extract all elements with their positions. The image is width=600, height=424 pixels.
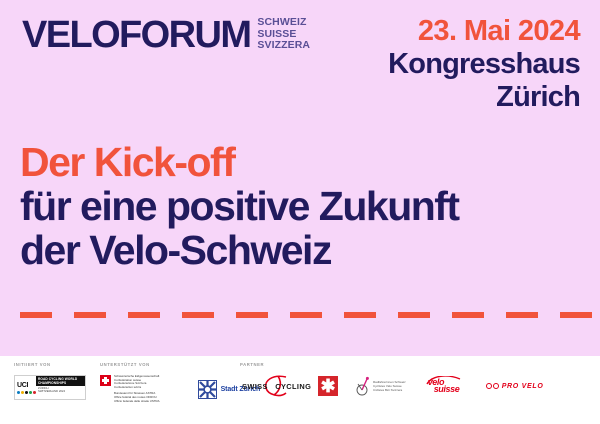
footer-label-partners: PARTNER [240, 362, 592, 367]
veloforum-wordmark: VELOFORUM [22, 16, 250, 54]
headline-line-3: der Velo-Schweiz [20, 228, 580, 272]
footer-label-supported-by: UNTERSTÜTZT VON [100, 362, 260, 367]
divider-dash [74, 312, 106, 318]
footer-column-initiated-by: INITIIERT VON UCI ROAD CYCLING WORLD CHA… [14, 362, 86, 400]
divider-dash [344, 312, 376, 318]
brand-language-list: SCHWEIZ SUISSE SVIZZERA [254, 17, 310, 52]
divider-dash [20, 312, 52, 318]
swiss-cross-icon [100, 375, 111, 386]
footer-logo-row-initiated-by: UCI ROAD CYCLING WORLD CHAMPIONSHIPS ZÜR… [14, 375, 86, 400]
astra-line-it: Ufficio federale delle strade USTRA [114, 400, 160, 404]
event-date: 23. Mai 2024 [388, 14, 580, 48]
pro-velo-label: PRO VELO [502, 383, 544, 390]
federation-text: Radfahrerinnen Schweiz Cyclistes Vélo Su… [373, 380, 406, 392]
uci-rings-icon [17, 391, 36, 394]
footer-logo-row-supported-by: Schweizerische Eidgenossenschaft Confédé… [100, 375, 260, 403]
velosuisse-logo: velo suisse [426, 376, 472, 396]
divider-dash [236, 312, 268, 318]
uci-logo-mark-area: UCI [15, 376, 36, 399]
swiss-cycling-logo: SWISS CYCLING [242, 375, 304, 397]
uci-logo-mark: UCI [17, 382, 36, 390]
footer-column-supported-by: UNTERSTÜTZT VON Schweizerische Eidgenoss… [100, 362, 260, 403]
swiss-confederation-logo: Schweizerische Eidgenossenschaft Confédé… [100, 375, 160, 403]
uci-logo-text-area: ROAD CYCLING WORLD CHAMPIONSHIPS ZÜRICH … [36, 376, 85, 399]
event-details: 23. Mai 2024 Kongresshaus Zürich [388, 14, 580, 114]
federation-mark-icon [356, 376, 370, 396]
divider-dash [128, 312, 160, 318]
pro-velo-logo: PRO VELO [486, 383, 544, 390]
event-venue-line1: Kongresshaus [388, 48, 580, 81]
footer-column-partners: PARTNER SWISS CYCLING ✱ [240, 362, 592, 397]
divider-dash [560, 312, 592, 318]
divider-dash [290, 312, 322, 318]
federation-line-it: Ciclistes Bici Svizzera [373, 388, 406, 392]
divider-dash [182, 312, 214, 318]
event-venue-line2: Zürich [388, 81, 580, 114]
uci-subline-country: SWITZERLAND 2024 [38, 390, 83, 393]
headline-block: Der Kick-off für eine positive Zukunft d… [20, 140, 580, 272]
uci-logo: UCI ROAD CYCLING WORLD CHAMPIONSHIPS ZÜR… [14, 375, 86, 400]
velosuisse-word-suisse: suisse [434, 385, 460, 394]
dashed-divider [20, 312, 600, 318]
divider-dash [506, 312, 538, 318]
radfahrer-federation-logo: Radfahrerinnen Schweiz Cyclistes Vélo Su… [356, 376, 406, 396]
swiss-confederation-text: Schweizerische Eidgenossenschaft Confédé… [114, 375, 160, 403]
swiss-cycling-word-swiss: SWISS [242, 382, 268, 391]
uci-sublines: ZÜRICH SWITZERLAND 2024 [36, 386, 85, 399]
swiss-cycling-word-cycling: CYCLING [275, 382, 311, 391]
zurich-coat-of-arms-icon [198, 380, 217, 399]
headline-line-1: Der Kick-off [20, 140, 580, 184]
headline-line-2: für eine positive Zukunft [20, 184, 580, 228]
poster-header: VELOFORUM SCHWEIZ SUISSE SVIZZERA 23. Ma… [0, 0, 600, 128]
brand-language-de: SCHWEIZ [257, 17, 310, 29]
brand-language-it: SVIZZERA [257, 40, 310, 52]
poster-footer: INITIIERT VON UCI ROAD CYCLING WORLD CHA… [0, 356, 600, 424]
divider-dash [398, 312, 430, 318]
poster-canvas: VELOFORUM SCHWEIZ SUISSE SVIZZERA 23. Ma… [0, 0, 600, 424]
swiss-cycling-label: SWISS CYCLING [242, 382, 311, 391]
footer-label-initiated-by: INITIIERT VON [14, 362, 86, 367]
star-glyph-icon: ✱ [320, 379, 335, 393]
red-star-logo: ✱ [318, 376, 338, 396]
footer-logo-row-partners: SWISS CYCLING ✱ Radfahre [240, 375, 592, 397]
uci-championship-bar: ROAD CYCLING WORLD CHAMPIONSHIPS [36, 376, 85, 386]
divider-dash [452, 312, 484, 318]
uci-championship-text: ROAD CYCLING WORLD CHAMPIONSHIPS [38, 377, 83, 385]
veloforum-brand-lockup: VELOFORUM SCHWEIZ SUISSE SVIZZERA [22, 16, 310, 54]
pro-velo-wheels-icon [486, 383, 499, 389]
